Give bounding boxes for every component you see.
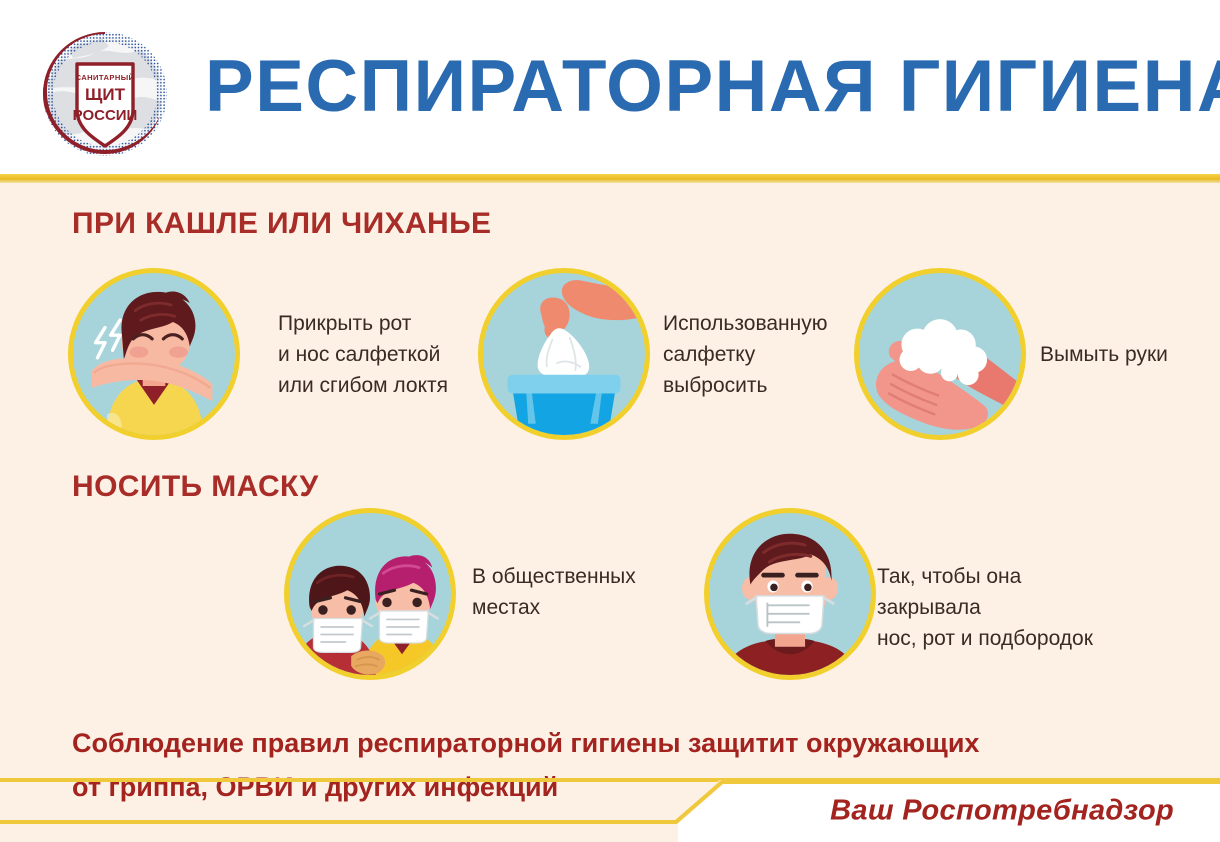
- washing-hands-icon: [854, 268, 1026, 440]
- footer-banner: Ваш Роспотребнадзор: [0, 780, 1220, 842]
- sanitary-shield-logo: САНИТАРНЫЙ ЩИТ РОССИИ: [35, 24, 175, 164]
- caption-public-places: В общественных местах: [472, 561, 662, 623]
- poster-header: САНИТАРНЫЙ ЩИТ РОССИИ РЕСПИРАТОРНАЯ ГИГИ…: [0, 0, 1220, 176]
- logo-line3: РОССИИ: [73, 107, 138, 124]
- tissue-into-bin-icon: [478, 268, 650, 440]
- sneeze-into-elbow-icon: [68, 268, 240, 440]
- two-people-masks-icon: [284, 508, 456, 680]
- poster-root: САНИТАРНЫЙ ЩИТ РОССИИ РЕСПИРАТОРНАЯ ГИГИ…: [0, 0, 1220, 842]
- caption-mask-coverage: Так, чтобы она закрывала нос, рот и подб…: [877, 561, 1127, 654]
- caption-cover-mouth: Прикрыть рот и нос салфеткой или сгибом …: [278, 308, 468, 401]
- section-heading-cough: ПРИ КАШЛЕ ИЛИ ЧИХАНЬЕ: [72, 207, 491, 241]
- section-heading-mask: НОСИТЬ МАСКУ: [72, 470, 319, 504]
- man-wearing-mask-icon: [704, 508, 876, 680]
- logo-line1: САНИТАРНЫЙ: [76, 73, 135, 82]
- header-gold-divider: [0, 174, 1220, 183]
- logo-line2: ЩИТ: [85, 85, 126, 104]
- caption-discard-tissue: Использованную салфетку выбросить: [663, 308, 853, 401]
- footer-signature: Ваш Роспотребнадзор: [830, 795, 1174, 828]
- caption-wash-hands: Вымыть руки: [1040, 339, 1220, 370]
- poster-title: РЕСПИРАТОРНАЯ ГИГИЕНА: [205, 42, 1205, 130]
